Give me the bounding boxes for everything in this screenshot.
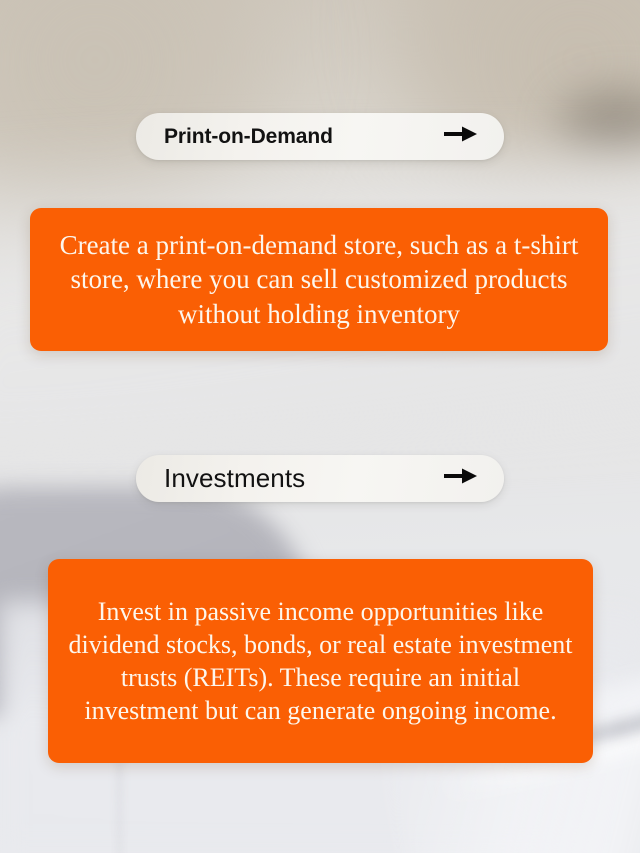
- section-card-text: Invest in passive income opportunities l…: [48, 595, 593, 727]
- section-header-investments[interactable]: Investments: [136, 455, 504, 502]
- section-card-investments: Invest in passive income opportunities l…: [48, 559, 593, 763]
- story-slide: Print-on-Demand Create a print-on-demand…: [0, 0, 640, 853]
- section-card-print-on-demand: Create a print-on-demand store, such as …: [30, 208, 608, 351]
- arrow-right-icon: [444, 467, 478, 490]
- arrow-right-icon: [444, 125, 478, 148]
- section-header-print-on-demand[interactable]: Print-on-Demand: [136, 113, 504, 160]
- section-card-text: Create a print-on-demand store, such as …: [30, 228, 608, 331]
- section-header-label: Print-on-Demand: [164, 125, 333, 149]
- section-header-label: Investments: [164, 463, 305, 494]
- slide-content: Print-on-Demand Create a print-on-demand…: [0, 0, 640, 853]
